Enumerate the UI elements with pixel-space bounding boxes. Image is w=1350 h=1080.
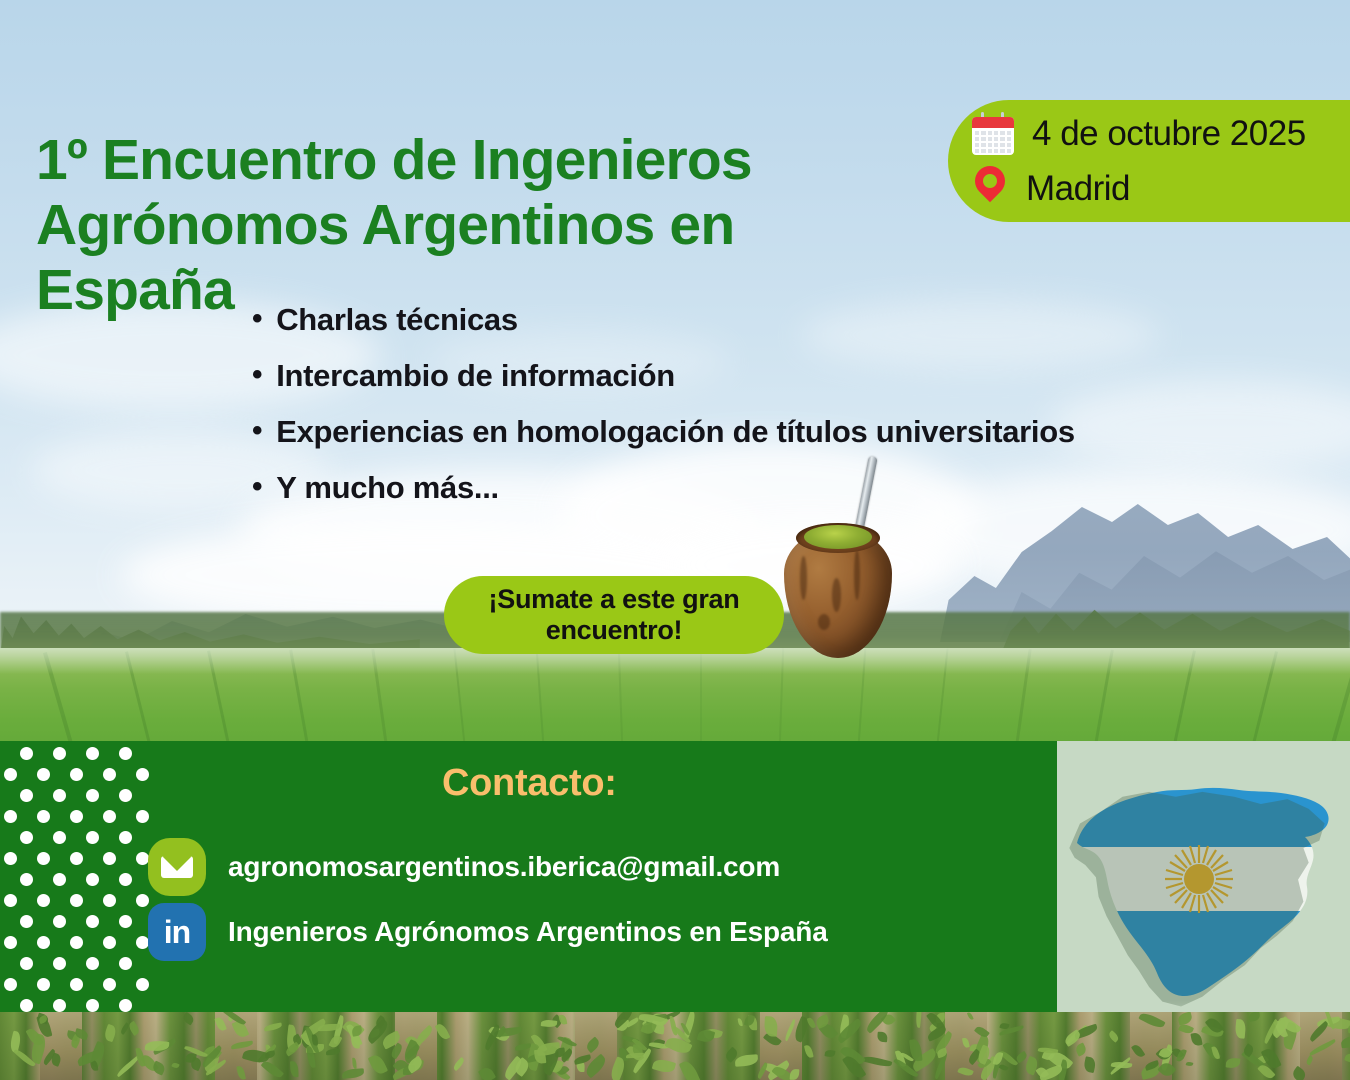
decorative-dot: [70, 810, 83, 823]
dot-pattern-decoration: [0, 741, 150, 1012]
list-item-label: Charlas técnicas: [276, 303, 518, 337]
iberia-map-argentine-flag-icon: [1071, 757, 1337, 1001]
decorative-dot: [4, 852, 17, 865]
bottom-crop-strip: [0, 1012, 1350, 1080]
list-item-label: Y mucho más...: [276, 471, 499, 505]
cta-line-1: ¡Sumate a este gran: [489, 584, 740, 614]
decorative-dot: [20, 831, 33, 844]
decorative-dot: [4, 936, 17, 949]
decorative-dot: [119, 999, 132, 1012]
decorative-dot: [103, 768, 116, 781]
decorative-dot: [136, 810, 149, 823]
date-location-badge: 4 de octubre 2025 Madrid: [948, 100, 1350, 222]
badge-city-text: Madrid: [1026, 169, 1130, 209]
cta-button[interactable]: ¡Sumate a este gran encuentro!: [444, 576, 784, 654]
decorative-dot: [37, 768, 50, 781]
decorative-dot: [119, 915, 132, 928]
decorative-dot: [53, 789, 66, 802]
decorative-dot: [119, 747, 132, 760]
decorative-dot: [136, 978, 149, 991]
decorative-dot: [4, 810, 17, 823]
decorative-dot: [4, 894, 17, 907]
decorative-dot: [53, 747, 66, 760]
envelope-icon: [148, 838, 206, 896]
cta-label: ¡Sumate a este gran encuentro!: [489, 584, 740, 646]
decorative-dot: [53, 873, 66, 886]
map-panel: [1057, 741, 1350, 1012]
decorative-dot: [70, 978, 83, 991]
bullet-marker: •: [252, 304, 262, 334]
decorative-dot: [86, 789, 99, 802]
decorative-dot: [53, 915, 66, 928]
linkedin-icon: in: [148, 903, 206, 961]
contact-heading: Contacto:: [442, 762, 617, 805]
decorative-dot: [103, 852, 116, 865]
contact-linkedin-text: Ingenieros Agrónomos Argentinos en Españ…: [228, 916, 828, 948]
decorative-dot: [20, 873, 33, 886]
decorative-dot: [103, 810, 116, 823]
decorative-dot: [70, 852, 83, 865]
bullet-marker: •: [252, 416, 262, 446]
calendar-icon: [970, 112, 1016, 156]
decorative-dot: [70, 936, 83, 949]
mate-gourd-icon: [778, 455, 898, 665]
title-line-1: 1º Encuentro de Ingenieros: [36, 128, 926, 193]
list-item-label: Experiencias en homologación de títulos …: [276, 415, 1075, 449]
decorative-dot: [119, 831, 132, 844]
decorative-dot: [53, 831, 66, 844]
decorative-dot: [86, 873, 99, 886]
badge-city-row: Madrid: [970, 161, 1350, 216]
page-title: 1º Encuentro de Ingenieros Agrónomos Arg…: [36, 128, 926, 323]
decorative-dot: [4, 978, 17, 991]
decorative-dot: [37, 978, 50, 991]
decorative-dot: [86, 831, 99, 844]
decorative-dot: [119, 789, 132, 802]
decorative-dot: [136, 768, 149, 781]
flyer-canvas: 1º Encuentro de Ingenieros Agrónomos Arg…: [0, 0, 1350, 1080]
decorative-dot: [20, 789, 33, 802]
list-item: •Charlas técnicas: [252, 303, 1312, 337]
crop-leaf: [1235, 1020, 1246, 1040]
map-pin-icon: [970, 166, 1010, 212]
list-item-label: Intercambio de información: [276, 359, 675, 393]
decorative-dot: [86, 747, 99, 760]
cta-line-2: encuentro!: [546, 615, 683, 645]
decorative-dot: [119, 957, 132, 970]
decorative-dot: [70, 894, 83, 907]
decorative-dot: [103, 978, 116, 991]
list-item: •Experiencias en homologación de títulos…: [252, 415, 1312, 449]
decorative-dot: [4, 768, 17, 781]
contact-email-text: agronomosargentinos.iberica@gmail.com: [228, 851, 780, 883]
bullet-marker: •: [252, 360, 262, 390]
decorative-dot: [103, 936, 116, 949]
contact-linkedin-row[interactable]: in Ingenieros Agrónomos Argentinos en Es…: [148, 903, 828, 961]
decorative-dot: [37, 810, 50, 823]
decorative-dot: [86, 999, 99, 1012]
decorative-dot: [119, 873, 132, 886]
list-item: •Intercambio de información: [252, 359, 1312, 393]
decorative-dot: [20, 915, 33, 928]
decorative-dot: [70, 768, 83, 781]
decorative-dot: [37, 852, 50, 865]
decorative-dot: [86, 957, 99, 970]
decorative-dot: [53, 957, 66, 970]
title-line-2: Agrónomos Argentinos en: [36, 193, 926, 258]
badge-date-row: 4 de octubre 2025: [970, 106, 1350, 161]
decorative-dot: [37, 936, 50, 949]
decorative-dot: [37, 894, 50, 907]
bullet-marker: •: [252, 472, 262, 502]
decorative-dot: [20, 999, 33, 1012]
decorative-dot: [20, 957, 33, 970]
decorative-dot: [86, 915, 99, 928]
decorative-dot: [20, 747, 33, 760]
decorative-dot: [53, 999, 66, 1012]
yerba-mate-fill: [804, 525, 872, 549]
contact-email-row[interactable]: agronomosargentinos.iberica@gmail.com: [148, 838, 780, 896]
decorative-dot: [103, 894, 116, 907]
badge-date-text: 4 de octubre 2025: [1032, 114, 1306, 154]
